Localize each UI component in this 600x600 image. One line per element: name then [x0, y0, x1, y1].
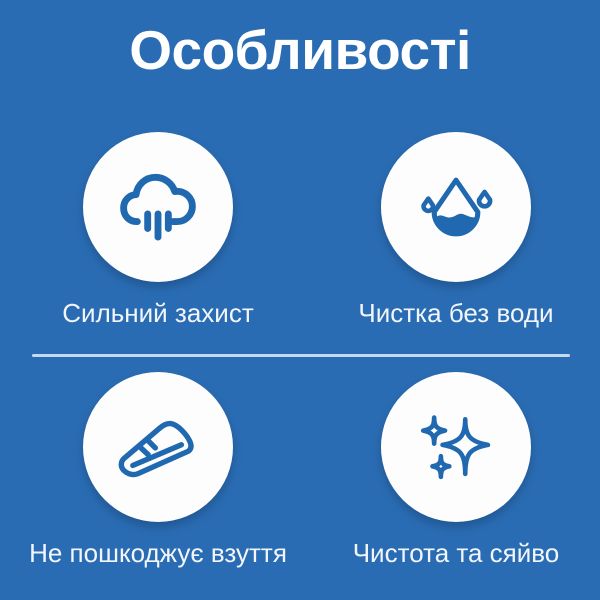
feature-label: Чистка без води [306, 299, 600, 328]
feature-item-shoe-safe[interactable]: Не пошкоджує взуття [8, 372, 308, 568]
feature-icon-badge [83, 132, 233, 282]
feature-icon-badge [381, 132, 531, 282]
features-poster: Особливості Сильний захист [0, 0, 600, 600]
page-title: Особливості [0, 22, 600, 80]
feature-label: Чистота та сяйво [306, 539, 600, 568]
sneaker-shoe-icon [113, 402, 203, 492]
feature-label: Сильний захист [8, 299, 308, 328]
sparkles-icon [414, 405, 498, 489]
feature-icon-badge [83, 372, 233, 522]
features-grid: Сильний захист Чистка без води [0, 132, 600, 592]
section-divider [32, 354, 570, 357]
feature-label: Не пошкоджує взуття [8, 539, 308, 568]
rain-cloud-icon [115, 164, 201, 250]
feature-item-clean-shine[interactable]: Чистота та сяйво [306, 372, 600, 568]
feature-item-strong-protection[interactable]: Сильний захист [8, 132, 308, 328]
feature-item-waterless-cleaning[interactable]: Чистка без води [306, 132, 600, 328]
feature-icon-badge [381, 372, 531, 522]
title-area: Особливості [0, 22, 600, 80]
water-drop-icon [414, 165, 498, 249]
